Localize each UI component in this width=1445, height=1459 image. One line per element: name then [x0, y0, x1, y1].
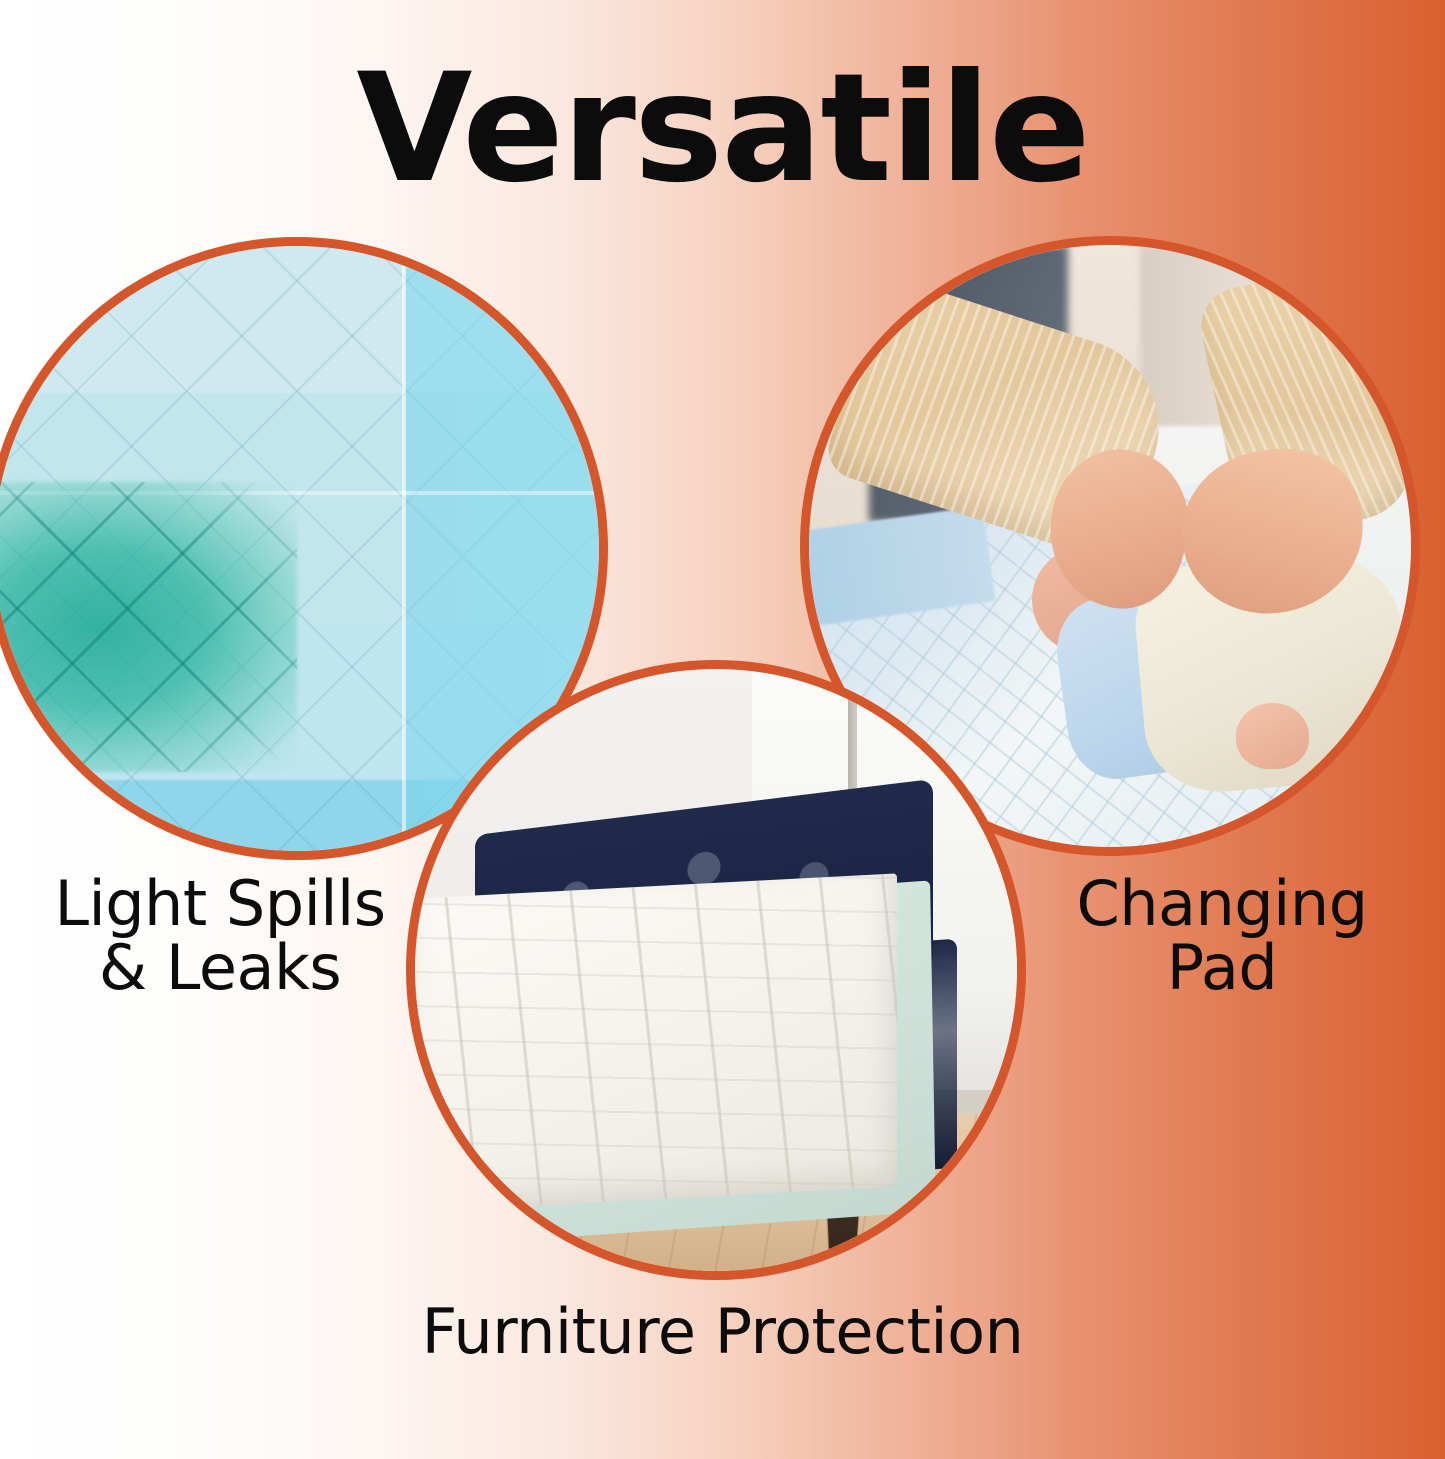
- feature-caption-light-spills-and-leaks: Light Spills & Leaks: [10, 872, 430, 1001]
- protective-pad-quilt-pattern: [415, 873, 897, 1211]
- versatile-infographic: Versatile: [0, 0, 1445, 1459]
- feature-caption-furniture-protection: Furniture Protection: [0, 1300, 1445, 1364]
- feature-image-furniture-protection: [406, 660, 1026, 1280]
- feature-caption-changing-pad: Changing Pad: [1022, 872, 1422, 1001]
- page-title: Versatile: [0, 54, 1445, 204]
- pad-vertical-fold: [402, 246, 406, 851]
- armchair-protection-photo: [415, 669, 1017, 1271]
- wet-spot-quilt-pattern: [0, 482, 297, 772]
- baby-foot: [1236, 703, 1308, 769]
